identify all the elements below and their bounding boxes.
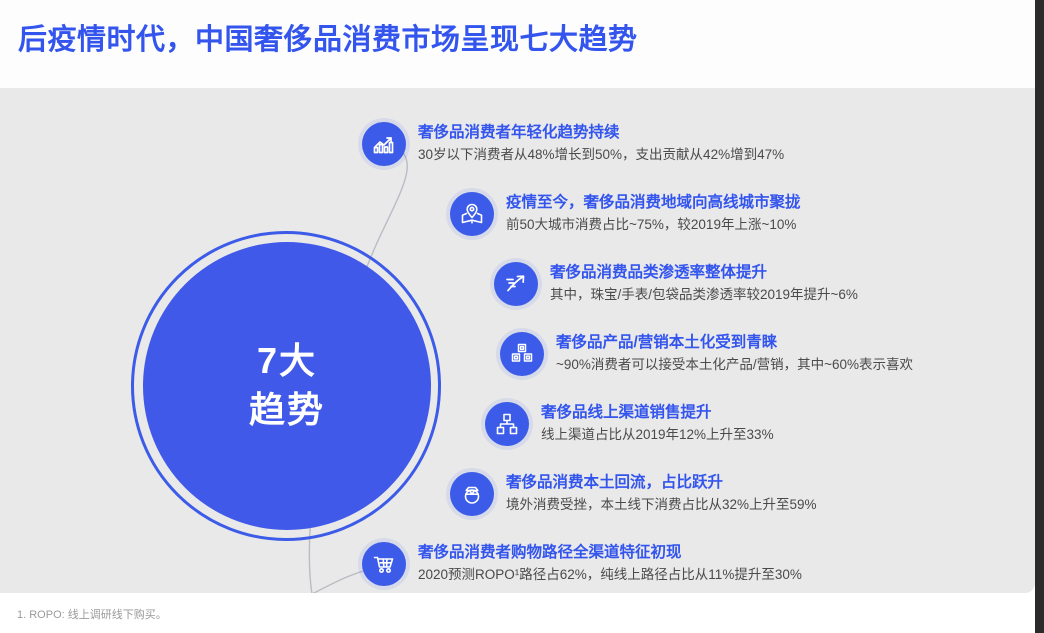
trend-subtitle-7: 2020预测ROPO¹路径占62%，纯线上路径占比从11%提升至30%: [418, 565, 802, 585]
trend-item-1[interactable]: 奢侈品消费者年轻化趋势持续 30岁以下消费者从48%增长到50%，支出贡献从42…: [362, 122, 784, 166]
blocks-grid-icon: [500, 332, 544, 376]
trend-title-2: 疫情至今，奢侈品消费地域向高线城市聚拢: [506, 193, 801, 214]
trend-item-3[interactable]: 奢侈品消费品类渗透率整体提升 其中，珠宝/手表/包袋品类渗透率较2019年提升~…: [494, 262, 858, 306]
center-label: 7大 趋势: [143, 242, 431, 530]
trend-subtitle-1: 30岁以下消费者从48%增长到50%，支出贡献从42%增到47%: [418, 145, 784, 165]
map-location-pin-icon: [450, 192, 494, 236]
trend-title-6: 奢侈品消费本土回流，占比跃升: [506, 473, 817, 494]
trend-text-1: 奢侈品消费者年轻化趋势持续 30岁以下消费者从48%增长到50%，支出贡献从42…: [418, 123, 784, 164]
trend-title-7: 奢侈品消费者购物路径全渠道特征初现: [418, 543, 802, 564]
trend-title-4: 奢侈品产品/营销本土化受到青睐: [556, 333, 913, 354]
trend-text-6: 奢侈品消费本土回流，占比跃升 境外消费受挫，本土线下消费占比从32%上升至59%: [506, 473, 817, 514]
trend-item-5[interactable]: 奢侈品线上渠道销售提升 线上渠道占比从2019年12%上升至33%: [485, 402, 774, 446]
network-hierarchy-icon: [485, 402, 529, 446]
trend-title-5: 奢侈品线上渠道销售提升: [541, 403, 774, 424]
center-label-line1: 7大: [257, 337, 317, 386]
trend-item-6[interactable]: 奢侈品消费本土回流，占比跃升 境外消费受挫，本土线下消费占比从32%上升至59%: [450, 472, 817, 516]
page-title: 后疫情时代，中国奢侈品消费市场呈现七大趋势: [18, 16, 638, 58]
rising-arrow-icon: [494, 262, 538, 306]
trend-text-7: 奢侈品消费者购物路径全渠道特征初现 2020预测ROPO¹路径占62%，纯线上路…: [418, 543, 802, 584]
bar-chart-growth-icon: [362, 122, 406, 166]
footnote: 1. ROPO: 线上调研线下购买。: [17, 606, 167, 622]
trend-title-1: 奢侈品消费者年轻化趋势持续: [418, 123, 784, 144]
trend-subtitle-4: ~90%消费者可以接受本土化产品/营销，其中~60%表示喜欢: [556, 355, 913, 375]
trend-title-3: 奢侈品消费品类渗透率整体提升: [550, 263, 858, 284]
trend-item-2[interactable]: 疫情至今，奢侈品消费地域向高线城市聚拢 前50大城市消费占比~75%，较2019…: [450, 192, 801, 236]
trend-item-4[interactable]: 奢侈品产品/营销本土化受到青睐 ~90%消费者可以接受本土化产品/营销，其中~6…: [500, 332, 913, 376]
trend-subtitle-5: 线上渠道占比从2019年12%上升至33%: [541, 425, 774, 445]
handbag-icon: [450, 472, 494, 516]
trend-subtitle-6: 境外消费受挫，本土线下消费占比从32%上升至59%: [506, 495, 817, 515]
shopping-cart-icon: [362, 542, 406, 586]
trend-text-5: 奢侈品线上渠道销售提升 线上渠道占比从2019年12%上升至33%: [541, 403, 774, 444]
trend-text-4: 奢侈品产品/营销本土化受到青睐 ~90%消费者可以接受本土化产品/营销，其中~6…: [556, 333, 913, 374]
trend-item-7[interactable]: 奢侈品消费者购物路径全渠道特征初现 2020预测ROPO¹路径占62%，纯线上路…: [362, 542, 802, 586]
trend-subtitle-2: 前50大城市消费占比~75%，较2019年上涨~10%: [506, 215, 801, 235]
center-label-line2: 趋势: [249, 386, 325, 435]
right-edge-strip: [1035, 0, 1044, 633]
trend-text-3: 奢侈品消费品类渗透率整体提升 其中，珠宝/手表/包袋品类渗透率较2019年提升~…: [550, 263, 858, 304]
trend-text-2: 疫情至今，奢侈品消费地域向高线城市聚拢 前50大城市消费占比~75%，较2019…: [506, 193, 801, 234]
trend-subtitle-3: 其中，珠宝/手表/包袋品类渗透率较2019年提升~6%: [550, 285, 858, 305]
slide-canvas: 后疫情时代，中国奢侈品消费市场呈现七大趋势 7大 趋势 奢: [0, 0, 1044, 633]
